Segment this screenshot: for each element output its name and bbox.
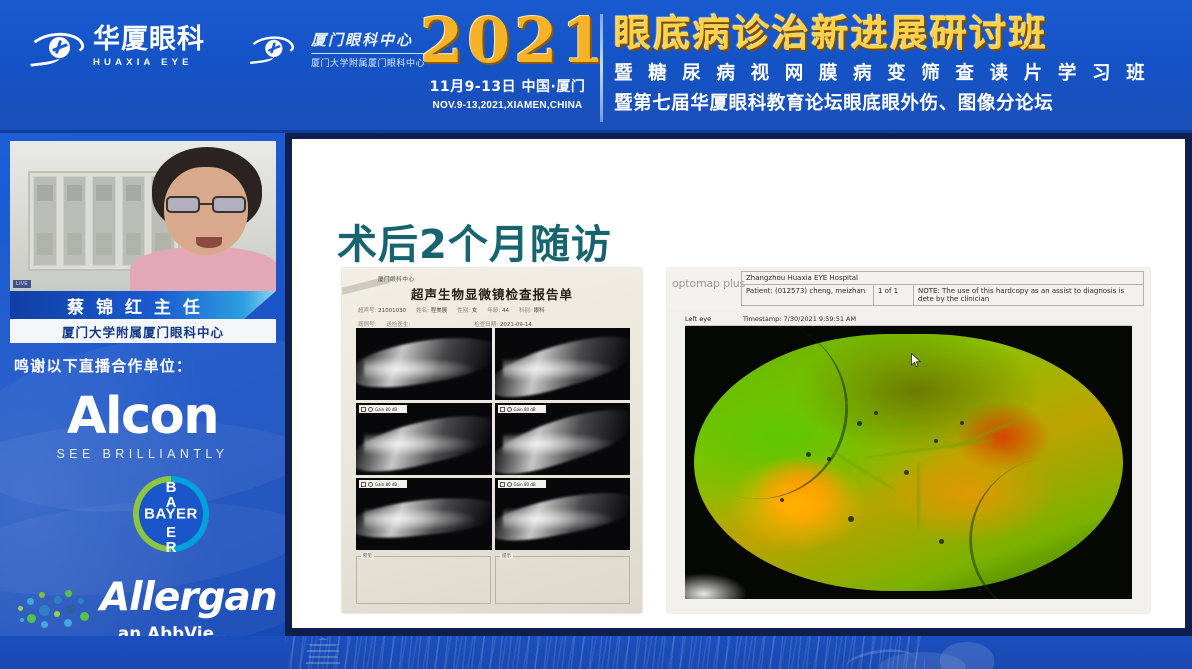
ubm-field-row: 超声号: 21001030 姓名: 程美展 性别: 女 年龄: 44 科别: 眼… [358,306,632,314]
allergan-dots-icon [18,590,100,632]
event-title-block: 眼底病诊治新进展研讨班 暨 糖 尿 病 视 网 膜 病 变 筛 查 读 片 学 … [614,14,1174,115]
ubm-field: 姓名: 程美展 [416,306,447,314]
ubm-field: 病例号: [358,320,376,328]
sponsor-heading: 鸣谢以下直播合作单位： [14,355,192,376]
fundus-retinal-image [694,334,1123,591]
eye-logo-icon [28,30,84,64]
ubm-report-photo[interactable]: 厦门眼科中心 超声生物显微镜检查报告单 超声号: 21001030 姓名: 程美… [342,268,642,613]
ubm-field: 年龄: 44 [487,306,509,314]
ubm-field: 超声号: 21001030 [358,306,406,314]
speaker-glasses [166,196,246,213]
speaker-name-banner: 蔡 锦 红 主 任 [10,291,276,319]
header-divider [600,14,603,122]
event-main-title: 眼底病诊治新进展研讨班 [614,14,1174,54]
footer-bubble-decor [940,642,994,669]
event-year: 2021 [420,12,595,69]
speaker-affiliation: 厦门大学附属厦门眼科中心 [62,322,224,341]
sponsor-logo-alcon: Alcon SEE BRILLIANTLY [0,391,285,461]
speaker-name: 蔡 锦 红 主 任 [10,291,276,319]
huaxia-eye-logo: 华厦眼科 HUAXIA EYE [28,26,205,68]
ubm-scan-image: Gain 80 dB [495,478,631,550]
optomap-page: 1 of 1 [874,285,914,305]
optomap-eye-label: Left eye [685,315,743,325]
ubm-scan-image: Gain 80 dB [356,478,492,550]
speaker-video-feed[interactable]: LIVE [10,141,276,291]
speaker-mouth [196,237,222,248]
livestream-screen: 华厦眼科 HUAXIA EYE 厦门眼科中心 厦门大学附属厦门眼科中心 2021… [0,0,1192,669]
ubm-scan-image [356,328,492,400]
video-badge: LIVE [13,280,31,288]
optomap-header: optomap plus Zhangzhou Huaxia EYE Hospit… [667,268,1150,310]
optomap-info-table: Zhangzhou Huaxia EYE Hospital Patient: (… [741,271,1144,306]
optomap-report-photo[interactable]: optomap plus Zhangzhou Huaxia EYE Hospit… [667,268,1150,613]
alcon-tagline: SEE BRILLIANTLY [0,447,285,461]
optomap-patient: Patient: (012573) cheng, meizhan [742,285,874,305]
huaxia-logo-cn: 华厦眼科 [93,26,205,53]
mouse-pointer-icon [911,353,922,368]
bayer-cross-icon: BAYER BAYER [133,476,209,552]
ubm-hospital-name: 厦门眼科中心 [378,275,415,283]
event-date-en: NOV.9-13,2021,XIAMEN,CHINA [420,100,595,111]
bayer-wordmark: BAYER [133,506,209,523]
sponsor-logo-bayer: BAYER BAYER [133,476,209,552]
left-sidebar: LIVE 蔡 锦 红 主 任 厦门大学附属厦门眼科中心 鸣谢以下直播合作单位： … [0,133,285,669]
optomap-note: NOTE: The use of this hardcopy as an ass… [914,285,1143,305]
event-date-block: 2021 11月9-13日 中国·厦门 NOV.9-13,2021,XIAMEN… [420,12,595,111]
allergan-wordmark: Allergan [100,578,277,617]
slide-title: 术后2个月随访 [337,212,612,270]
slide-viewer[interactable]: 术后2个月随访 厦门眼科中心 超声生物显微镜检查报告单 超声号: 2100103… [285,133,1192,636]
logo-divider [311,53,429,54]
ubm-scan-grid: Gain 80 dB Gain 80 dB Gain 80 dB Gain 80… [356,328,630,550]
event-subtitle-1: 暨 糖 尿 病 视 网 膜 病 变 筛 查 读 片 学 习 班 [614,59,1174,85]
optomap-hospital: Zhangzhou Huaxia EYE Hospital [741,271,1144,284]
optomap-brand: optomap plus [672,277,745,290]
event-subtitle-2: 暨第七届华厦眼科教育论坛眼底眼外伤、图像分论坛 [614,89,1174,115]
eye-logo-icon [248,34,294,62]
photo-glare [685,573,747,599]
ubm-field: 性别: 女 [457,306,477,314]
huaxia-logo-en: HUAXIA EYE [93,57,205,68]
optomap-timestamp: Timestamp: 7/30/2021 9:59:51 AM [743,315,1132,325]
alcon-wordmark: Alcon [0,391,285,442]
footer-pattern-decor [285,636,925,669]
presentation-slide: 术后2个月随访 厦门眼科中心 超声生物显微镜检查报告单 超声号: 2100103… [292,139,1185,628]
ubm-scan-image [495,328,631,400]
fundus-image-frame [685,326,1132,599]
ubm-notes-section: 所见 提示 [356,556,630,604]
ubm-field-row: 病例号: 送检医生: 检查日期: 2021-09-14 [358,320,632,328]
speaker-affiliation-banner: 厦门大学附属厦门眼科中心 [10,319,276,343]
ubm-note-impression: 提示 [495,556,630,604]
event-header-banner: 华厦眼科 HUAXIA EYE 厦门眼科中心 厦门大学附属厦门眼科中心 2021… [0,0,1192,133]
event-date-cn: 11月9-13日 中国·厦门 [420,76,595,96]
ubm-field: 科别: 眼科 [519,306,545,314]
footer-strip [0,636,1192,669]
ubm-field: 送检医生: [386,320,410,328]
ubm-note-findings: 所见 [356,556,491,604]
ubm-scan-image: Gain 80 dB [356,403,492,475]
ubm-field: 检查日期: 2021-09-14 [474,320,532,328]
xiamen-logo-cn2: 厦门大学附属厦门眼科中心 [311,56,429,69]
xiamen-logo-cn: 厦门眼科中心 [311,29,429,50]
ubm-scan-image: Gain 80 dB [495,403,631,475]
optomap-subheader: Left eye Timestamp: 7/30/2021 9:59:51 AM [685,315,1132,326]
ubm-report-title: 超声生物显微镜检查报告单 [342,284,642,303]
xiamen-eye-center-logo: 厦门眼科中心 厦门大学附属厦门眼科中心 [248,28,429,68]
